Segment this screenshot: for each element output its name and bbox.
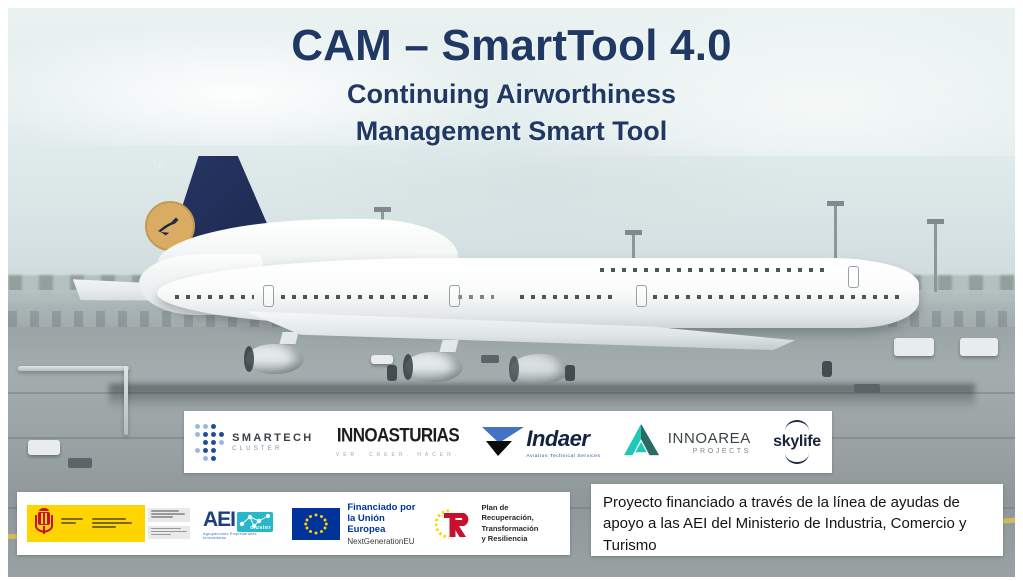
ground-vehicle [960, 338, 998, 356]
main-landing-gear [565, 365, 575, 381]
partner-logo-smartech: SMARTECH CLUSTER [195, 424, 314, 461]
partner-logo-indaer: Indaer Aviation Technical Services [482, 425, 600, 459]
aei-subtitle: Agrupaciones Empresariales Innovadoras [203, 532, 279, 540]
main-deck-window-row [175, 295, 255, 299]
eu-flag-icon [292, 508, 340, 540]
eu-line-3: NextGenerationEU [347, 537, 422, 546]
prtr-line-3: y Resiliencia [481, 534, 560, 544]
funding-logo-union-europea: Financiado por la Unión Europea NextGene… [292, 502, 422, 546]
gobierno-line-2 [92, 518, 132, 530]
tow-tractor [854, 384, 880, 393]
passenger-door [636, 285, 647, 307]
smartech-tagline: CLUSTER [232, 446, 314, 452]
indaer-tagline: Aviation Technical Services [526, 454, 600, 459]
eu-line-1: Financiado por [347, 502, 422, 513]
main-deck-window-row [653, 295, 901, 299]
eu-line-2: la Unión Europea [347, 513, 422, 535]
gobierno-wordmark [61, 518, 132, 530]
aei-badge-label: cluster [250, 525, 271, 531]
engine-nacelle [246, 344, 304, 374]
funding-caption-box: Proyecto financiado a través de la línea… [591, 484, 1003, 556]
innoarea-tagline: PROJECTS [668, 448, 751, 455]
funding-caption-text: Proyecto financiado a través de la línea… [603, 492, 991, 556]
main-deck-window-row [520, 295, 617, 299]
indaer-name: Indaer [526, 426, 600, 452]
partner-logo-innoarea: INNOAREA PROJECTS [623, 423, 751, 462]
main-landing-gear [387, 365, 397, 381]
funding-logo-gobierno-espana [27, 505, 190, 542]
smartech-name: SMARTECH [232, 432, 314, 444]
partner-logo-skylife: skylife [773, 420, 821, 464]
gobierno-line-1 [61, 518, 83, 530]
cloud-left [8, 19, 512, 144]
partner-logo-bar: SMARTECH CLUSTER INNOASTURIAS VER. CREER… [184, 411, 832, 473]
passenger-door [449, 285, 460, 307]
gobierno-yellow-block [27, 505, 145, 542]
aei-network-icon: cluster [237, 512, 273, 532]
skylife-arc-top-icon [785, 420, 809, 431]
partner-logo-innoasturias: INNOASTURIAS VER. CREER. HACER. [336, 426, 460, 458]
spain-coat-of-arms-icon [32, 506, 56, 541]
funding-logo-aei: AEI cluster Agrupacio [203, 508, 279, 540]
jet-bridge-support [124, 366, 128, 434]
ground-vehicle [481, 355, 499, 363]
passenger-door [263, 285, 274, 307]
skylife-arc-bottom-icon [785, 453, 809, 464]
ground-vehicle [28, 440, 60, 455]
prtr-logo-icon [435, 507, 475, 541]
engine-pylon [439, 340, 458, 352]
innoasturias-tagline: VER. CREER. HACER. [336, 452, 460, 458]
main-deck-window-row [458, 295, 493, 299]
aei-name: AEI [203, 508, 235, 532]
gobierno-secondary-marks [148, 508, 190, 539]
ground-vehicle [68, 458, 92, 468]
engine-nacelle [405, 352, 463, 382]
passenger-door [848, 266, 859, 288]
jet-bridge [18, 366, 129, 371]
innoarea-name: INNOAREA [668, 430, 751, 447]
main-deck-window-row [281, 295, 432, 299]
dot-grid-icon [195, 424, 224, 461]
boeing-747-aircraft: TH [68, 184, 954, 389]
prtr-line-1: Plan de Recuperación, [481, 503, 560, 524]
prtr-line-2: Transformación [481, 524, 560, 534]
engine-nacelle [511, 354, 569, 384]
innoasturias-name: INNOASTURIAS [337, 425, 459, 447]
presentation-slide: TH [0, 0, 1023, 581]
upper-deck-window-row [600, 268, 830, 272]
funding-logo-prtr: Plan de Recuperación, Transformación y R… [435, 503, 560, 544]
engine-pylon [280, 332, 299, 344]
funding-logo-bar: AEI cluster Agrupacio [17, 492, 570, 555]
ground-vehicle [371, 355, 393, 364]
innoarea-triangle-icon [623, 423, 661, 462]
tail-registration-label: TH [153, 163, 163, 170]
ground-vehicle [894, 338, 934, 356]
indaer-triangle-icon [482, 425, 524, 459]
nose-landing-gear [822, 361, 832, 377]
skylife-name: skylife [773, 433, 821, 451]
